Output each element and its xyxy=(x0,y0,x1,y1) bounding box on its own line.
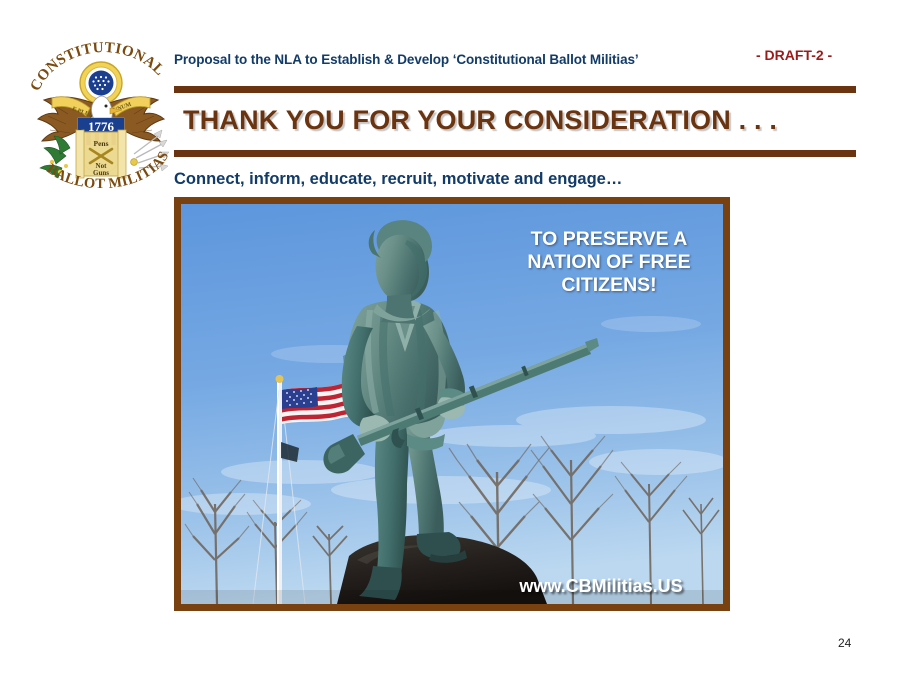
page-title: THANK YOU FOR YOUR CONSIDERATION . . . xyxy=(183,105,777,136)
logo-scroll-line-3: Guns xyxy=(93,169,109,177)
constitutional-ballot-militias-logo: CONSTITUTIONAL E PLURIBUS UNUM xyxy=(22,36,180,188)
photo-caption-headline: TO PRESERVE A NATION OF FREE CITIZENS! xyxy=(499,228,719,297)
slide-header-title: Proposal to the NLA to Establish & Devel… xyxy=(174,52,639,67)
draft-status-badge: - DRAFT-2 - xyxy=(756,47,832,63)
title-rule-top xyxy=(174,86,856,93)
page-number: 24 xyxy=(838,636,851,650)
logo-scroll-line-1: Pens xyxy=(94,139,109,148)
minuteman-statue-photo: TO PRESERVE A NATION OF FREE CITIZENS! w… xyxy=(174,197,730,611)
slide-subtitle: Connect, inform, educate, recruit, motiv… xyxy=(174,170,622,189)
title-rule-bottom xyxy=(174,150,856,157)
photo-caption-website-url: www.CBMilitias.US xyxy=(481,576,721,597)
crest-artwork: CONSTITUTIONAL E PLURIBUS UNUM xyxy=(22,36,180,188)
